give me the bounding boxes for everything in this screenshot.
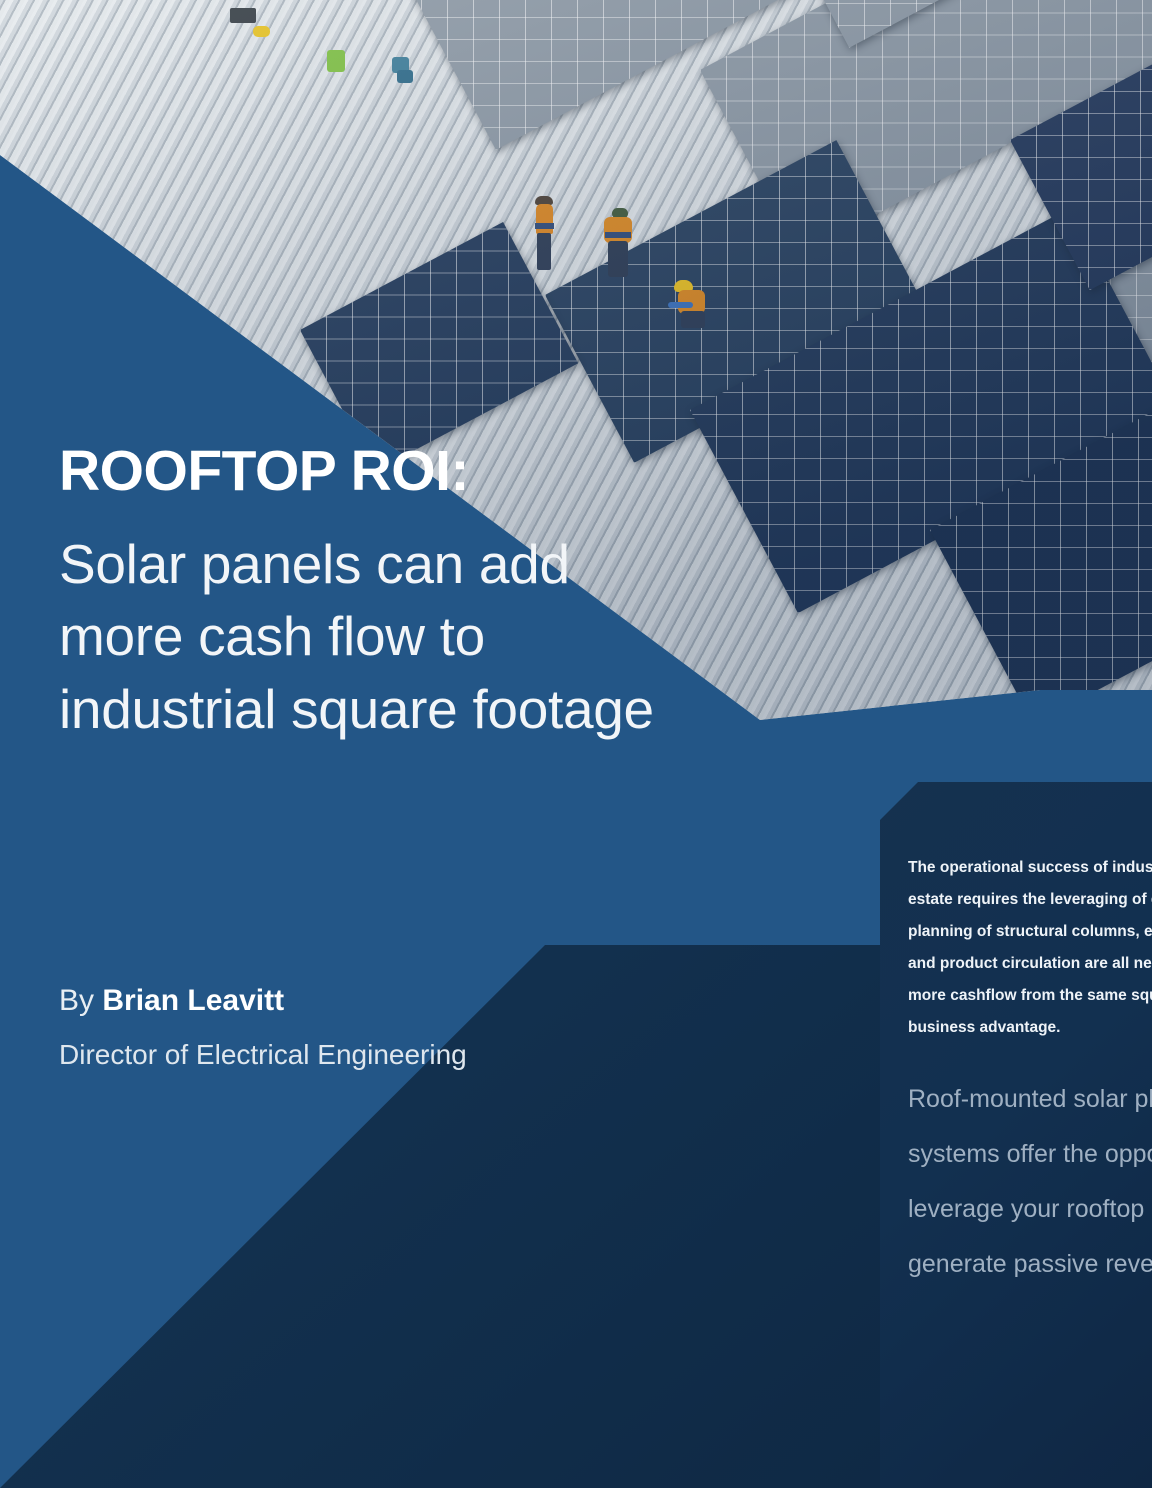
byline: By Brian Leavitt Director of Electrical … (59, 978, 679, 1078)
body-line: generate passive revenue. (908, 1237, 1152, 1292)
byline-author-line: By Brian Leavitt (59, 978, 679, 1023)
body-line: estate requires the leveraging of every … (908, 884, 1152, 916)
body-line: and product circulation are all needed. … (908, 948, 1152, 980)
author-title: Director of Electrical Engineering (59, 1033, 679, 1078)
body-line: Roof-mounted solar photovoltaic (908, 1072, 1152, 1127)
page-title: Solar panels can add more cash flow to i… (59, 528, 679, 746)
roof-equipment-dark (230, 8, 256, 23)
body-line: systems offer the opportunity to (908, 1127, 1152, 1182)
worker-figure (668, 280, 708, 330)
body-line: The operational success of industrial re… (908, 852, 1152, 884)
worker-figure (531, 196, 557, 274)
body-line: leverage your rooftop square footage to (908, 1182, 1152, 1237)
byline-prefix: By (59, 984, 94, 1017)
worker-figure (600, 208, 634, 280)
body-paragraph-2: Roof-mounted solar photovoltaicsystems o… (908, 1072, 1152, 1292)
roof-equipment-green (327, 50, 345, 72)
cover-page: ROOFTOP ROI: Solar panels can add more c… (0, 0, 1152, 1488)
roof-equipment-yellow (253, 26, 270, 37)
body-line: planning of structural columns, employee… (908, 916, 1152, 948)
body-paragraph-1: The operational success of industrial re… (908, 852, 1152, 1044)
roof-equipment-teal (397, 70, 413, 83)
body-copy: The operational success of industrial re… (908, 852, 1152, 1292)
page-kicker: ROOFTOP ROI: (59, 442, 679, 502)
title-block: ROOFTOP ROI: Solar panels can add more c… (59, 442, 679, 746)
body-line: more cashflow from the same square foota… (908, 980, 1152, 1012)
body-line: business advantage. (908, 1012, 1152, 1044)
author-name: Brian Leavitt (102, 984, 284, 1017)
